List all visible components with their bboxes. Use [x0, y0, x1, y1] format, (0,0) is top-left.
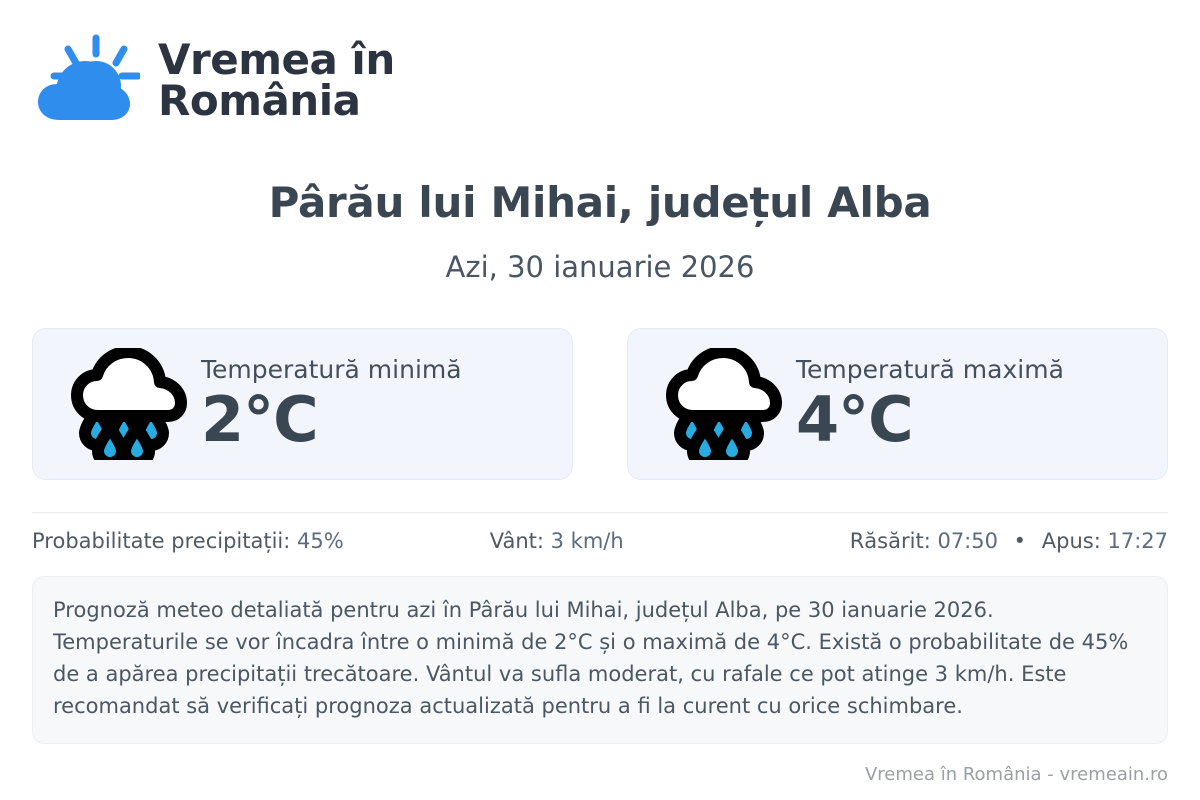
max-temperature-value: 4°C [796, 387, 1064, 452]
min-temperature-label: Temperatură minimă [201, 356, 462, 385]
sunrise-value: 07:50 [937, 529, 998, 553]
precipitation-stat: Probabilitate precipitații: 45% [32, 529, 344, 554]
sunset-value: 17:27 [1107, 529, 1168, 553]
sunset-label: Apus: [1042, 529, 1101, 553]
max-temperature-body: Temperatură maximă 4°C [796, 356, 1064, 452]
weather-page: Vremea în România Pârău lui Mihai, județ… [0, 0, 1200, 800]
rain-cloud-icon [71, 348, 191, 460]
wind-stat: Vânt: 3 km/h [344, 529, 850, 554]
max-temperature-card: Temperatură maximă 4°C [627, 328, 1168, 480]
sun-times-separator: • [1014, 529, 1026, 554]
sun-times-stat: Răsărit: 07:50 • Apus: 17:27 [850, 529, 1168, 554]
site-header: Vremea în România [32, 0, 1168, 110]
page-title: Pârău lui Mihai, județul Alba [32, 180, 1168, 226]
temperature-cards: Temperatură minimă 2°C Temper [32, 328, 1168, 480]
sun-behind-cloud-icon [32, 34, 140, 126]
min-temperature-value: 2°C [201, 387, 462, 452]
stats-divider [32, 512, 1168, 513]
footer-credit: Vremea în România - vremeain.ro [865, 764, 1168, 786]
forecast-description-text: Prognoză meteo detaliată pentru azi în P… [53, 595, 1145, 723]
weather-stats-row: Probabilitate precipitații: 45% Vânt: 3 … [32, 529, 1168, 554]
rain-cloud-icon [666, 348, 786, 460]
brand-name: Vremea în România [158, 39, 395, 121]
min-temperature-card: Temperatură minimă 2°C [32, 328, 573, 480]
brand-line-2: România [158, 76, 360, 125]
date-subtitle: Azi, 30 ianuarie 2026 [32, 252, 1168, 284]
precipitation-value: 45% [297, 529, 344, 553]
min-temperature-body: Temperatură minimă 2°C [201, 356, 462, 452]
precipitation-label: Probabilitate precipitații: [32, 529, 290, 553]
wind-label: Vânt: [490, 529, 544, 553]
forecast-description-box: Prognoză meteo detaliată pentru azi în P… [32, 576, 1168, 744]
sunrise-label: Răsărit: [850, 529, 931, 553]
max-temperature-label: Temperatură maximă [796, 356, 1064, 385]
wind-value: 3 km/h [551, 529, 624, 553]
